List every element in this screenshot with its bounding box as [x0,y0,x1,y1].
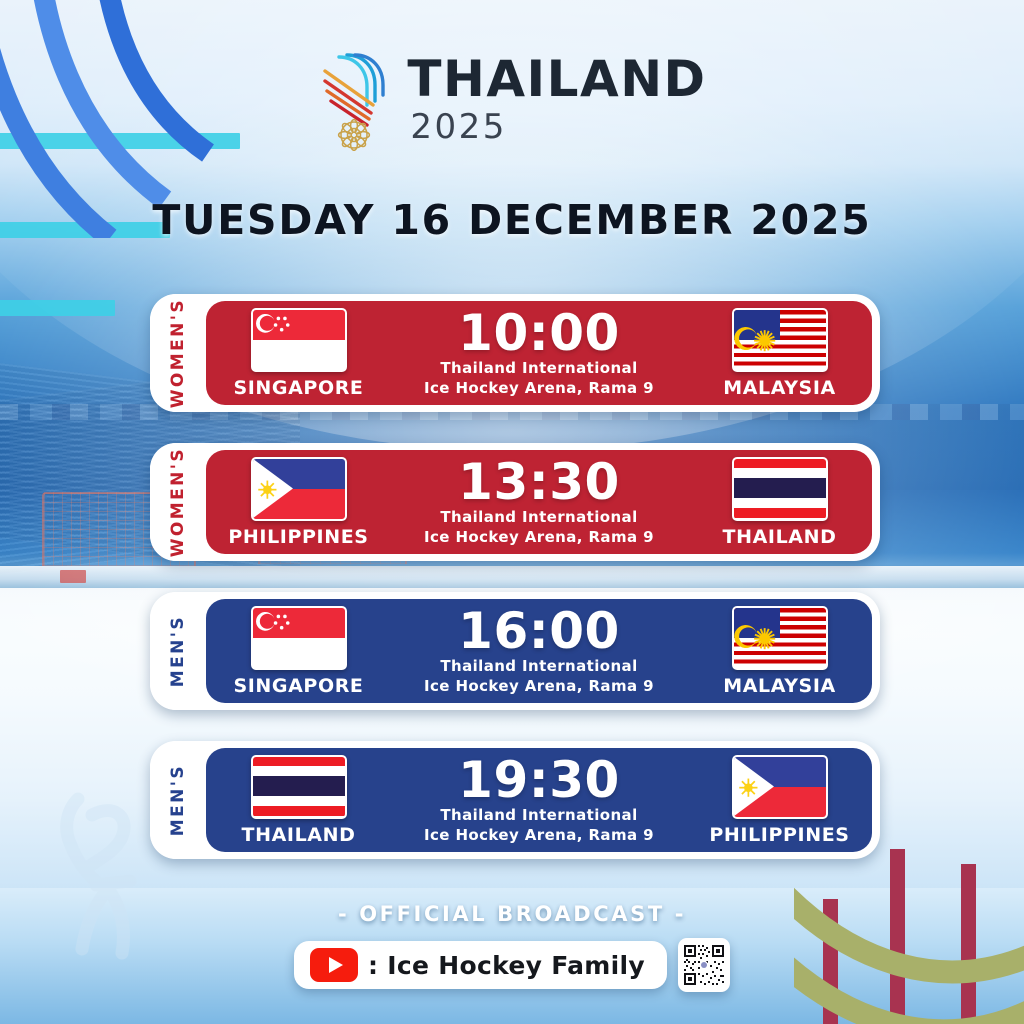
match-info: 16:00 Thailand International Ice Hockey … [391,606,687,697]
category-label: MEN'S [150,592,206,710]
match-time: 19:30 [458,755,620,805]
category-text: WOMEN'S [168,298,188,408]
venue-line-1: Thailand International [440,657,637,677]
away-team: THAILAND [687,457,872,548]
venue-line-1: Thailand International [440,806,637,826]
thailand-2025-games-emblem-icon [317,47,391,151]
match-info: 19:30 Thailand International Ice Hockey … [391,755,687,846]
match-card[interactable]: MEN'S THAILAND 19:30 Thailand Internatio… [150,741,880,859]
match-panel: PHILIPPINES 13:30 Thailand International… [206,450,872,554]
page-title: TUESDAY 16 DECEMBER 2025 [0,196,1024,244]
match-list: WOMEN'S SI [150,294,880,890]
match-panel: SINGAPORE 16:00 Thailand International I… [206,599,872,703]
venue-line-2: Ice Hockey Arena, Rama 9 [424,528,654,548]
philippines-flag-icon [732,755,828,819]
category-text: MEN'S [168,615,188,687]
match-time: 10:00 [458,308,620,358]
youtube-channel-button[interactable]: : Ice Hockey Family [294,941,667,989]
match-panel: SINGAPORE 10:00 Thailand International I… [206,301,872,405]
home-team: SINGAPORE [206,308,391,399]
team-name: THAILAND [242,824,356,846]
category-text: MEN'S [168,764,188,836]
match-panel: THAILAND 19:30 Thailand International Ic… [206,748,872,852]
youtube-icon [310,948,358,982]
venue-line-1: Thailand International [440,508,637,528]
venue-line-1: Thailand International [440,359,637,379]
team-name: SINGAPORE [233,675,363,697]
broadcast-row: : Ice Hockey Family [0,938,1024,992]
match-time: 16:00 [458,606,620,656]
team-name: PHILIPPINES [709,824,849,846]
broadcast-heading: - OFFICIAL BROADCAST - [0,902,1024,926]
away-team: MALAYSIA [687,308,872,399]
qr-code[interactable] [678,938,730,992]
cyan-accent-bar [0,300,115,316]
match-card[interactable]: MEN'S SING [150,592,880,710]
team-name: MALAYSIA [723,377,836,399]
logo-title: THAILAND [407,54,706,104]
singapore-flag-icon [251,308,347,372]
category-label: WOMEN'S [150,443,206,561]
category-label: WOMEN'S [150,294,206,412]
event-schedule-poster: THAILAND 2025 TUESDAY 16 DECEMBER 2025 W… [0,0,1024,1024]
category-label: MEN'S [150,741,206,859]
team-name: PHILIPPINES [228,526,368,548]
category-text: WOMEN'S [168,447,188,557]
home-team: THAILAND [206,755,391,846]
match-card[interactable]: WOMEN'S [150,443,880,561]
logo-year: 2025 [407,110,706,144]
home-team: SINGAPORE [206,606,391,697]
home-team: PHILIPPINES [206,457,391,548]
thailand-flag-icon [732,457,828,521]
venue-line-2: Ice Hockey Arena, Rama 9 [424,677,654,697]
away-team: MALAYSIA [687,606,872,697]
team-name: SINGAPORE [233,377,363,399]
match-info: 13:30 Thailand International Ice Hockey … [391,457,687,548]
event-logo: THAILAND 2025 [0,44,1024,154]
team-name: THAILAND [723,526,837,548]
match-time: 13:30 [458,457,620,507]
match-card[interactable]: WOMEN'S SI [150,294,880,412]
match-info: 10:00 Thailand International Ice Hockey … [391,308,687,399]
venue-line-2: Ice Hockey Arena, Rama 9 [424,379,654,399]
channel-name: : Ice Hockey Family [368,951,645,980]
singapore-flag-icon [251,606,347,670]
team-name: MALAYSIA [723,675,836,697]
philippines-flag-icon [251,457,347,521]
malaysia-flag-icon [732,606,828,670]
malaysia-flag-icon [732,308,828,372]
away-team: PHILIPPINES [687,755,872,846]
venue-line-2: Ice Hockey Arena, Rama 9 [424,826,654,846]
thailand-flag-icon [251,755,347,819]
